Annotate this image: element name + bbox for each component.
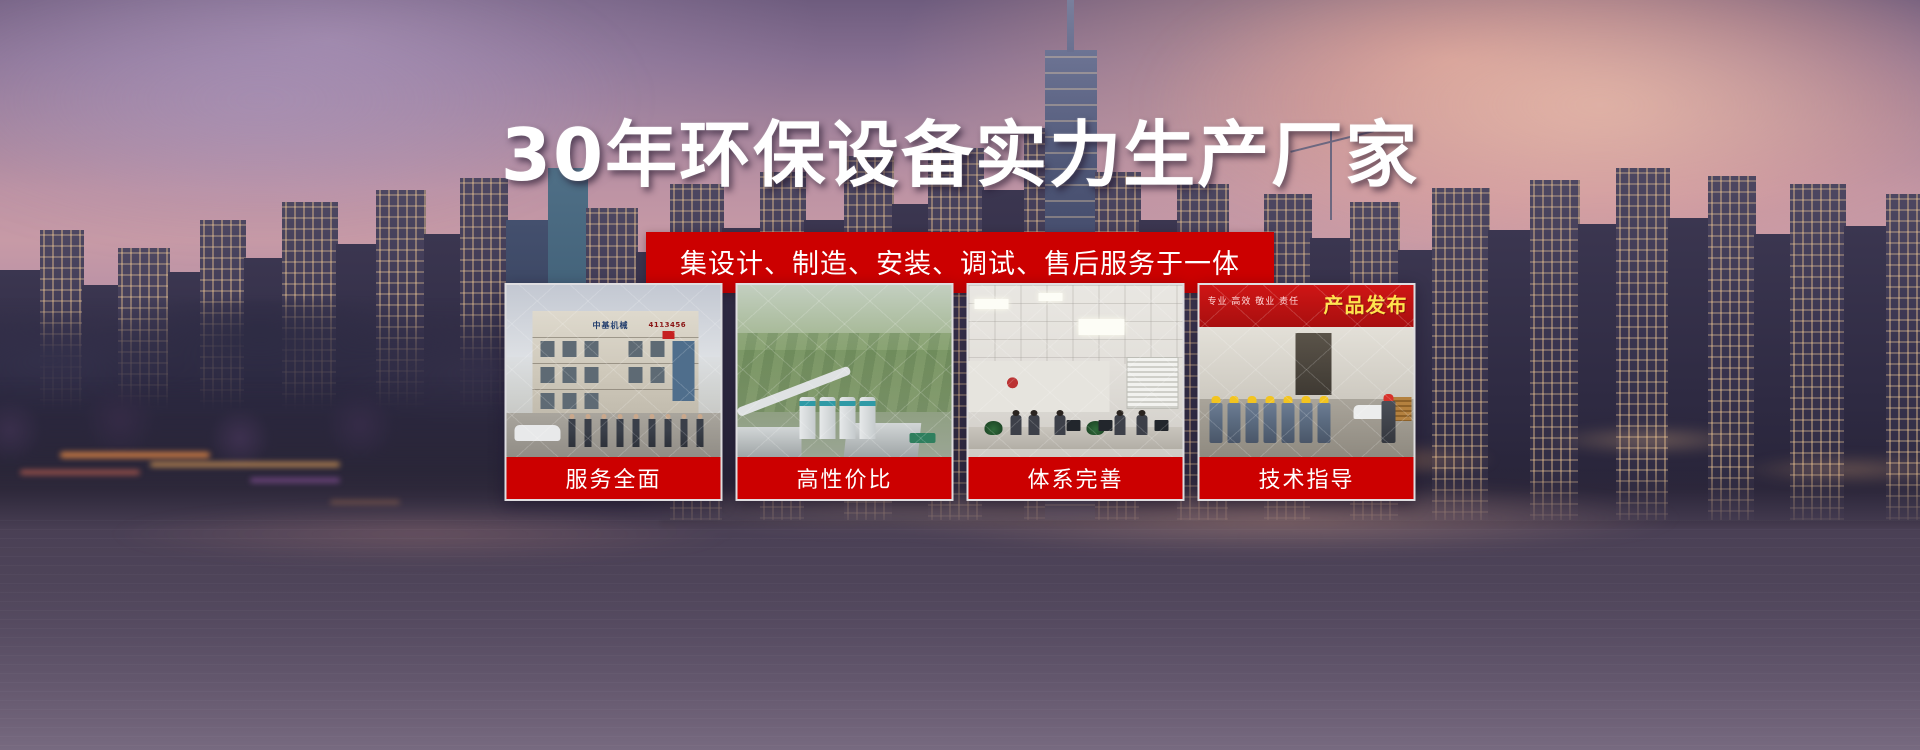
card-caption: 技术指导 (1200, 457, 1414, 499)
hero-banner: 30年环保设备实力生产厂家 集设计、制造、安装、调试、售后服务于一体 (0, 0, 1920, 750)
workshop-door (1296, 333, 1332, 395)
card-caption: 高性价比 (738, 457, 952, 499)
banner-slogan-small: 专业 高效 敬业 责任 (1208, 294, 1300, 307)
card-caption: 体系完善 (969, 457, 1183, 499)
flag-icon (663, 331, 675, 339)
building-sign-text: 中基机械 (593, 320, 629, 331)
subtitle-text: 集设计、制造、安装、调试、售后服务于一体 (680, 242, 1240, 281)
car-icon (515, 425, 561, 441)
card-caption: 服务全面 (507, 457, 721, 499)
card-photo-workshop-workers: 专业 高效 敬业 责任 产品发布 (1200, 285, 1414, 457)
workshop-red-banner: 专业 高效 敬业 责任 产品发布 (1200, 285, 1414, 327)
supervisor-figure (1382, 401, 1396, 443)
feature-card[interactable]: 中基机械 4113456 服务 (505, 283, 723, 501)
card-photo-aerial-plant (738, 285, 952, 457)
building-phone-text: 4113456 (649, 321, 687, 329)
feature-card-list: 中基机械 4113456 服务 (505, 283, 1416, 501)
feature-card[interactable]: 高性价比 (736, 283, 954, 501)
card-photo-office-interior (969, 285, 1183, 457)
card-photo-office-building: 中基机械 4113456 (507, 285, 721, 457)
window-blinds (1127, 357, 1179, 409)
page-title: 30年环保设备实力生产厂家 (0, 96, 1920, 201)
feature-card[interactable]: 专业 高效 敬业 责任 产品发布 (1198, 283, 1416, 501)
banner-slogan-large: 产品发布 (1324, 289, 1408, 318)
feature-card[interactable]: 体系完善 (967, 283, 1185, 501)
